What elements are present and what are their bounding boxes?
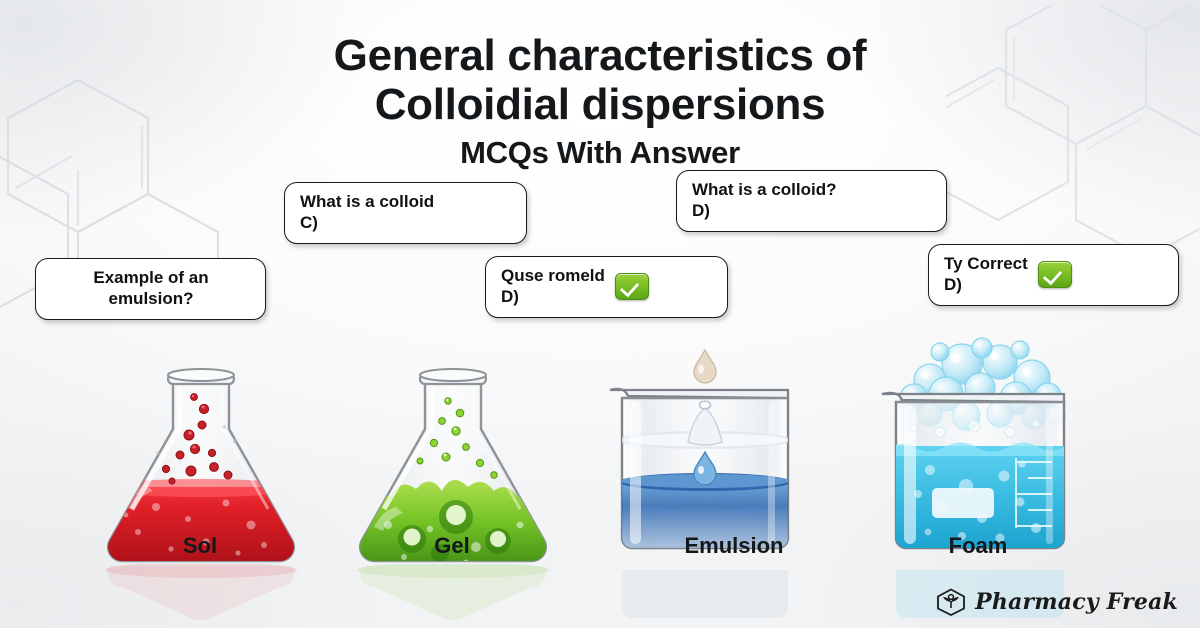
beaker-spout — [610, 389, 788, 398]
brand-logo[interactable]: Pharmacy Freak — [936, 588, 1178, 616]
falling-droplet-icon — [694, 350, 716, 383]
beaker-spout — [882, 393, 1064, 402]
poster-canvas: General characteristics of Colloidial di… — [0, 0, 1200, 628]
speech-bubble-colloid-question-d[interactable]: What is a colloid? D) — [676, 170, 947, 232]
vessel-caption-gel: Gel — [332, 533, 572, 559]
vessel-caption-sol: Sol — [80, 533, 320, 559]
bubble-text: What is a colloid C) — [300, 192, 434, 234]
brand-name: Pharmacy Freak — [975, 589, 1178, 615]
hexagon-mortar-plant-icon — [936, 588, 966, 616]
bubble-text: Ty Correct D) — [944, 254, 1028, 296]
vessel-caption-emulsion: Emulsion — [614, 533, 854, 559]
bubble-text: Example of an emulsion? — [93, 268, 208, 310]
title-line-1: General characteristics of — [0, 34, 1200, 79]
speech-bubble-colloid-question-c[interactable]: What is a colloid C) — [284, 182, 527, 244]
speech-bubble-ty-correct-answer[interactable]: Ty Correct D) — [928, 244, 1179, 306]
beaker-emulsion-reflection — [600, 568, 810, 628]
beaker-label — [932, 488, 994, 518]
speech-bubble-emulsion-question[interactable]: Example of an emulsion? — [35, 258, 266, 320]
correct-check-icon — [1038, 261, 1072, 288]
page-title: General characteristics of Colloidial di… — [0, 34, 1200, 168]
vessel-caption-foam: Foam — [858, 533, 1098, 559]
title-line-3: MCQs With Answer — [0, 137, 1200, 169]
flask-sol-reflection — [96, 564, 306, 628]
speech-bubble-quse-romeld-answer[interactable]: Quse romeld D) — [485, 256, 728, 318]
title-line-2: Colloidial dispersions — [0, 83, 1200, 128]
bubble-text: Quse romeld D) — [501, 266, 605, 308]
flask-gel-reflection — [348, 564, 558, 628]
correct-check-icon — [615, 273, 649, 300]
bubble-text: What is a colloid? D) — [692, 180, 837, 222]
